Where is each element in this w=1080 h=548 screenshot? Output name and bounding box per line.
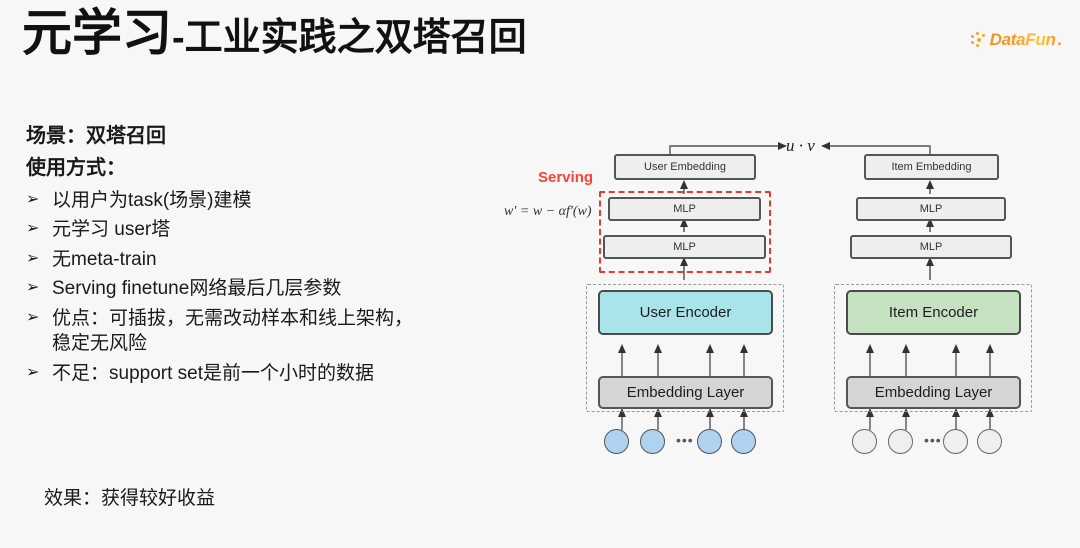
update-formula: w′ = w − αf′(w) <box>504 204 592 220</box>
bullet-list: ➢ 以用户为task(场景)建模 ➢ 元学习 user塔 ➢ 无meta-tra… <box>26 188 496 386</box>
two-tower-diagram: u · v Serving w′ = w − αf′(w) User Embed… <box>498 120 1076 470</box>
item-embedding-node: Item Embedding <box>864 154 999 180</box>
page-title: 元学习-工业实践之双塔召回 <box>22 8 527 58</box>
title-sub: 工业实践之双塔召回 <box>185 17 527 59</box>
logo-wordmark: DataFun <box>990 30 1056 50</box>
bullet-arrow-icon: ➢ <box>26 306 52 329</box>
item-embedding-layer-node: Embedding Layer <box>846 376 1021 409</box>
user-embedding-layer-node: Embedding Layer <box>598 376 773 409</box>
user-encoder-node: User Encoder <box>598 290 773 335</box>
slide-root: 元学习-工业实践之双塔召回 DataFun. 场景：双塔召回 使用方式： ➢ 以… <box>0 0 1080 548</box>
item-feature-circle <box>943 429 968 454</box>
user-feature-circle <box>697 429 722 454</box>
list-item: ➢ 以用户为task(场景)建模 <box>26 188 496 213</box>
content-body: 场景：双塔召回 使用方式： ➢ 以用户为task(场景)建模 ➢ 元学习 use… <box>26 124 496 390</box>
list-item-label: 不足：support set是前一个小时的数据 <box>52 361 496 386</box>
usage-heading: 使用方式： <box>26 156 496 181</box>
bullet-arrow-icon: ➢ <box>26 188 52 211</box>
item-feature-ellipsis: ••• <box>924 432 942 448</box>
list-item-line2: 稳定无风险 <box>52 331 496 356</box>
title-dash: - <box>172 17 185 59</box>
list-item: ➢ 优点：可插拔，无需改动样本和线上架构，稳定无风险 <box>26 306 496 357</box>
list-item: ➢ 不足：support set是前一个小时的数据 <box>26 361 496 386</box>
item-feature-circle <box>888 429 913 454</box>
list-item-label: 以用户为task(场景)建模 <box>52 188 496 213</box>
user-feature-circle <box>640 429 665 454</box>
bullet-arrow-icon: ➢ <box>26 276 52 299</box>
list-item-label: 元学习 user塔 <box>52 217 496 242</box>
list-item: ➢ 无meta-train <box>26 247 496 272</box>
logo-period: . <box>1058 30 1062 50</box>
list-item: ➢ Serving finetune网络最后几层参数 <box>26 276 496 301</box>
arrow-to-score-right <box>821 142 830 150</box>
bullet-arrow-icon: ➢ <box>26 361 52 384</box>
item-feature-circle <box>977 429 1002 454</box>
user-feature-circle <box>604 429 629 454</box>
datafun-logo: DataFun. <box>971 30 1062 50</box>
list-item-label: 优点：可插拔，无需改动样本和线上架构，稳定无风险 <box>52 306 496 357</box>
result-footnote: 效果：获得较好收益 <box>44 483 215 510</box>
user-feature-ellipsis: ••• <box>676 432 694 448</box>
item-mlp-top-node: MLP <box>856 197 1006 221</box>
bullet-arrow-icon: ➢ <box>26 217 52 240</box>
logo-dots-icon <box>971 32 987 48</box>
user-feature-circle <box>731 429 756 454</box>
item-encoder-node: Item Encoder <box>846 290 1021 335</box>
item-mlp-bottom-node: MLP <box>850 235 1012 259</box>
item-feature-circle <box>852 429 877 454</box>
score-label: u · v <box>786 136 815 156</box>
list-item-label: Serving finetune网络最后几层参数 <box>52 276 496 301</box>
list-item: ➢ 元学习 user塔 <box>26 217 496 242</box>
list-item-line1: 优点：可插拔，无需改动样本和线上架构， <box>52 308 413 329</box>
list-item-label: 无meta-train <box>52 247 496 272</box>
title-main: 元学习 <box>22 5 172 61</box>
user-mlp-top-node: MLP <box>608 197 761 221</box>
user-embedding-node: User Embedding <box>614 154 756 180</box>
bullet-arrow-icon: ➢ <box>26 247 52 270</box>
user-mlp-bottom-node: MLP <box>603 235 766 259</box>
serving-label: Serving <box>538 169 593 186</box>
scene-line: 场景：双塔召回 <box>26 124 496 149</box>
